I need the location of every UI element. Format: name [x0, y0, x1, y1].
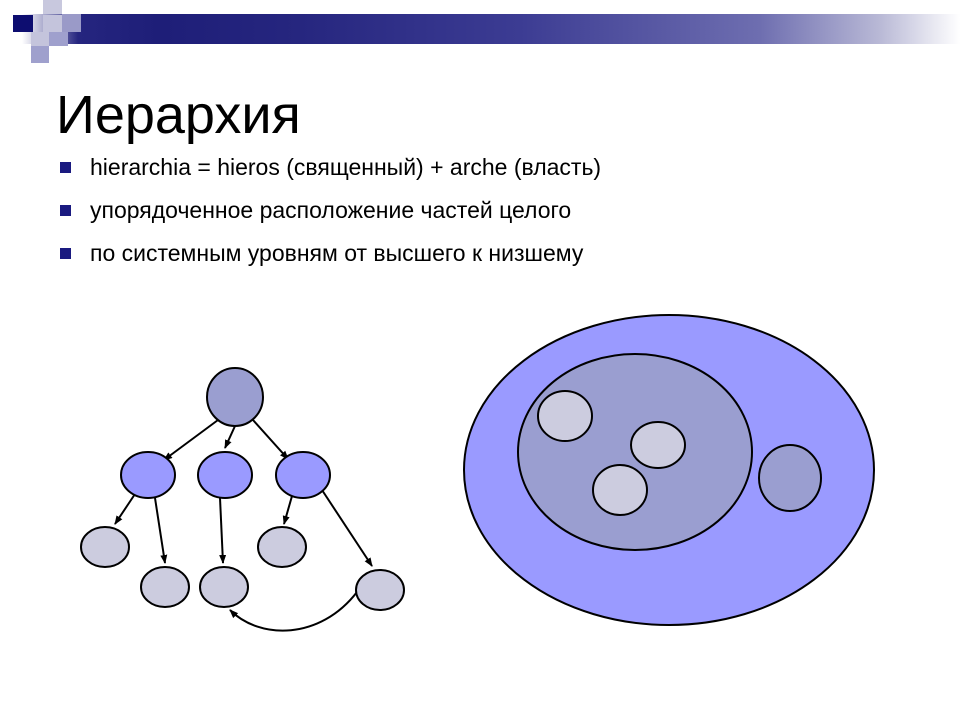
deco-square-light-top — [43, 0, 62, 14]
page-title: Иерархия — [56, 84, 301, 146]
tree-edge — [115, 494, 135, 524]
square-bullet-icon — [60, 162, 71, 173]
square-bullet-icon — [60, 205, 71, 216]
deco-square-pale-2 — [31, 32, 49, 46]
tree-node-leaf-3[interactable] — [200, 567, 248, 607]
tree-edge — [220, 498, 223, 563]
bullet-list: hierarchia = hieros (священный) + arche … — [60, 152, 930, 281]
tree-edge — [253, 420, 288, 459]
tree-node-mid-1[interactable] — [121, 452, 175, 498]
tree-edge — [322, 490, 372, 566]
header-decoration — [0, 0, 960, 60]
header-gradient-bar — [0, 14, 960, 44]
hierarchy-tree-diagram — [60, 340, 440, 640]
deco-square-mid-1 — [62, 14, 81, 32]
list-item: hierarchia = hieros (священный) + arche … — [60, 152, 930, 195]
tree-edge — [155, 498, 165, 563]
deco-square-navy — [13, 15, 33, 32]
tree-edge — [225, 426, 235, 448]
square-bullet-icon — [60, 248, 71, 259]
tree-node-mid-2[interactable] — [198, 452, 252, 498]
list-item-label: упорядоченное расположение частей целого — [90, 195, 571, 225]
tree-edge-feedback — [230, 592, 357, 631]
deco-square-light-topright — [62, 0, 81, 14]
nested-sets-diagram — [455, 300, 895, 640]
tree-node-leaf-4[interactable] — [258, 527, 306, 567]
deco-square-mid-2 — [49, 32, 68, 46]
tree-node-root[interactable] — [207, 368, 263, 426]
tree-node-mid-3[interactable] — [276, 452, 330, 498]
tree-edge — [284, 496, 292, 524]
small-circle-3[interactable] — [593, 465, 647, 515]
list-item-label: по системным уровням от высшего к низшем… — [90, 238, 583, 268]
list-item: упорядоченное расположение частей целого — [60, 195, 930, 238]
outside-circle[interactable] — [759, 445, 821, 511]
list-item: по системным уровням от высшего к низшем… — [60, 238, 930, 281]
deco-square-pale-1 — [43, 15, 62, 32]
small-circle-2[interactable] — [631, 422, 685, 468]
list-item-label: hierarchia = hieros (священный) + arche … — [90, 152, 601, 182]
tree-node-leaf-1[interactable] — [81, 527, 129, 567]
tree-node-leaf-5[interactable] — [356, 570, 404, 610]
tree-edge — [164, 420, 218, 460]
tree-node-group — [81, 368, 404, 610]
deco-square-mid-3 — [31, 46, 49, 63]
small-circle-1[interactable] — [538, 391, 592, 441]
tree-node-leaf-2[interactable] — [141, 567, 189, 607]
